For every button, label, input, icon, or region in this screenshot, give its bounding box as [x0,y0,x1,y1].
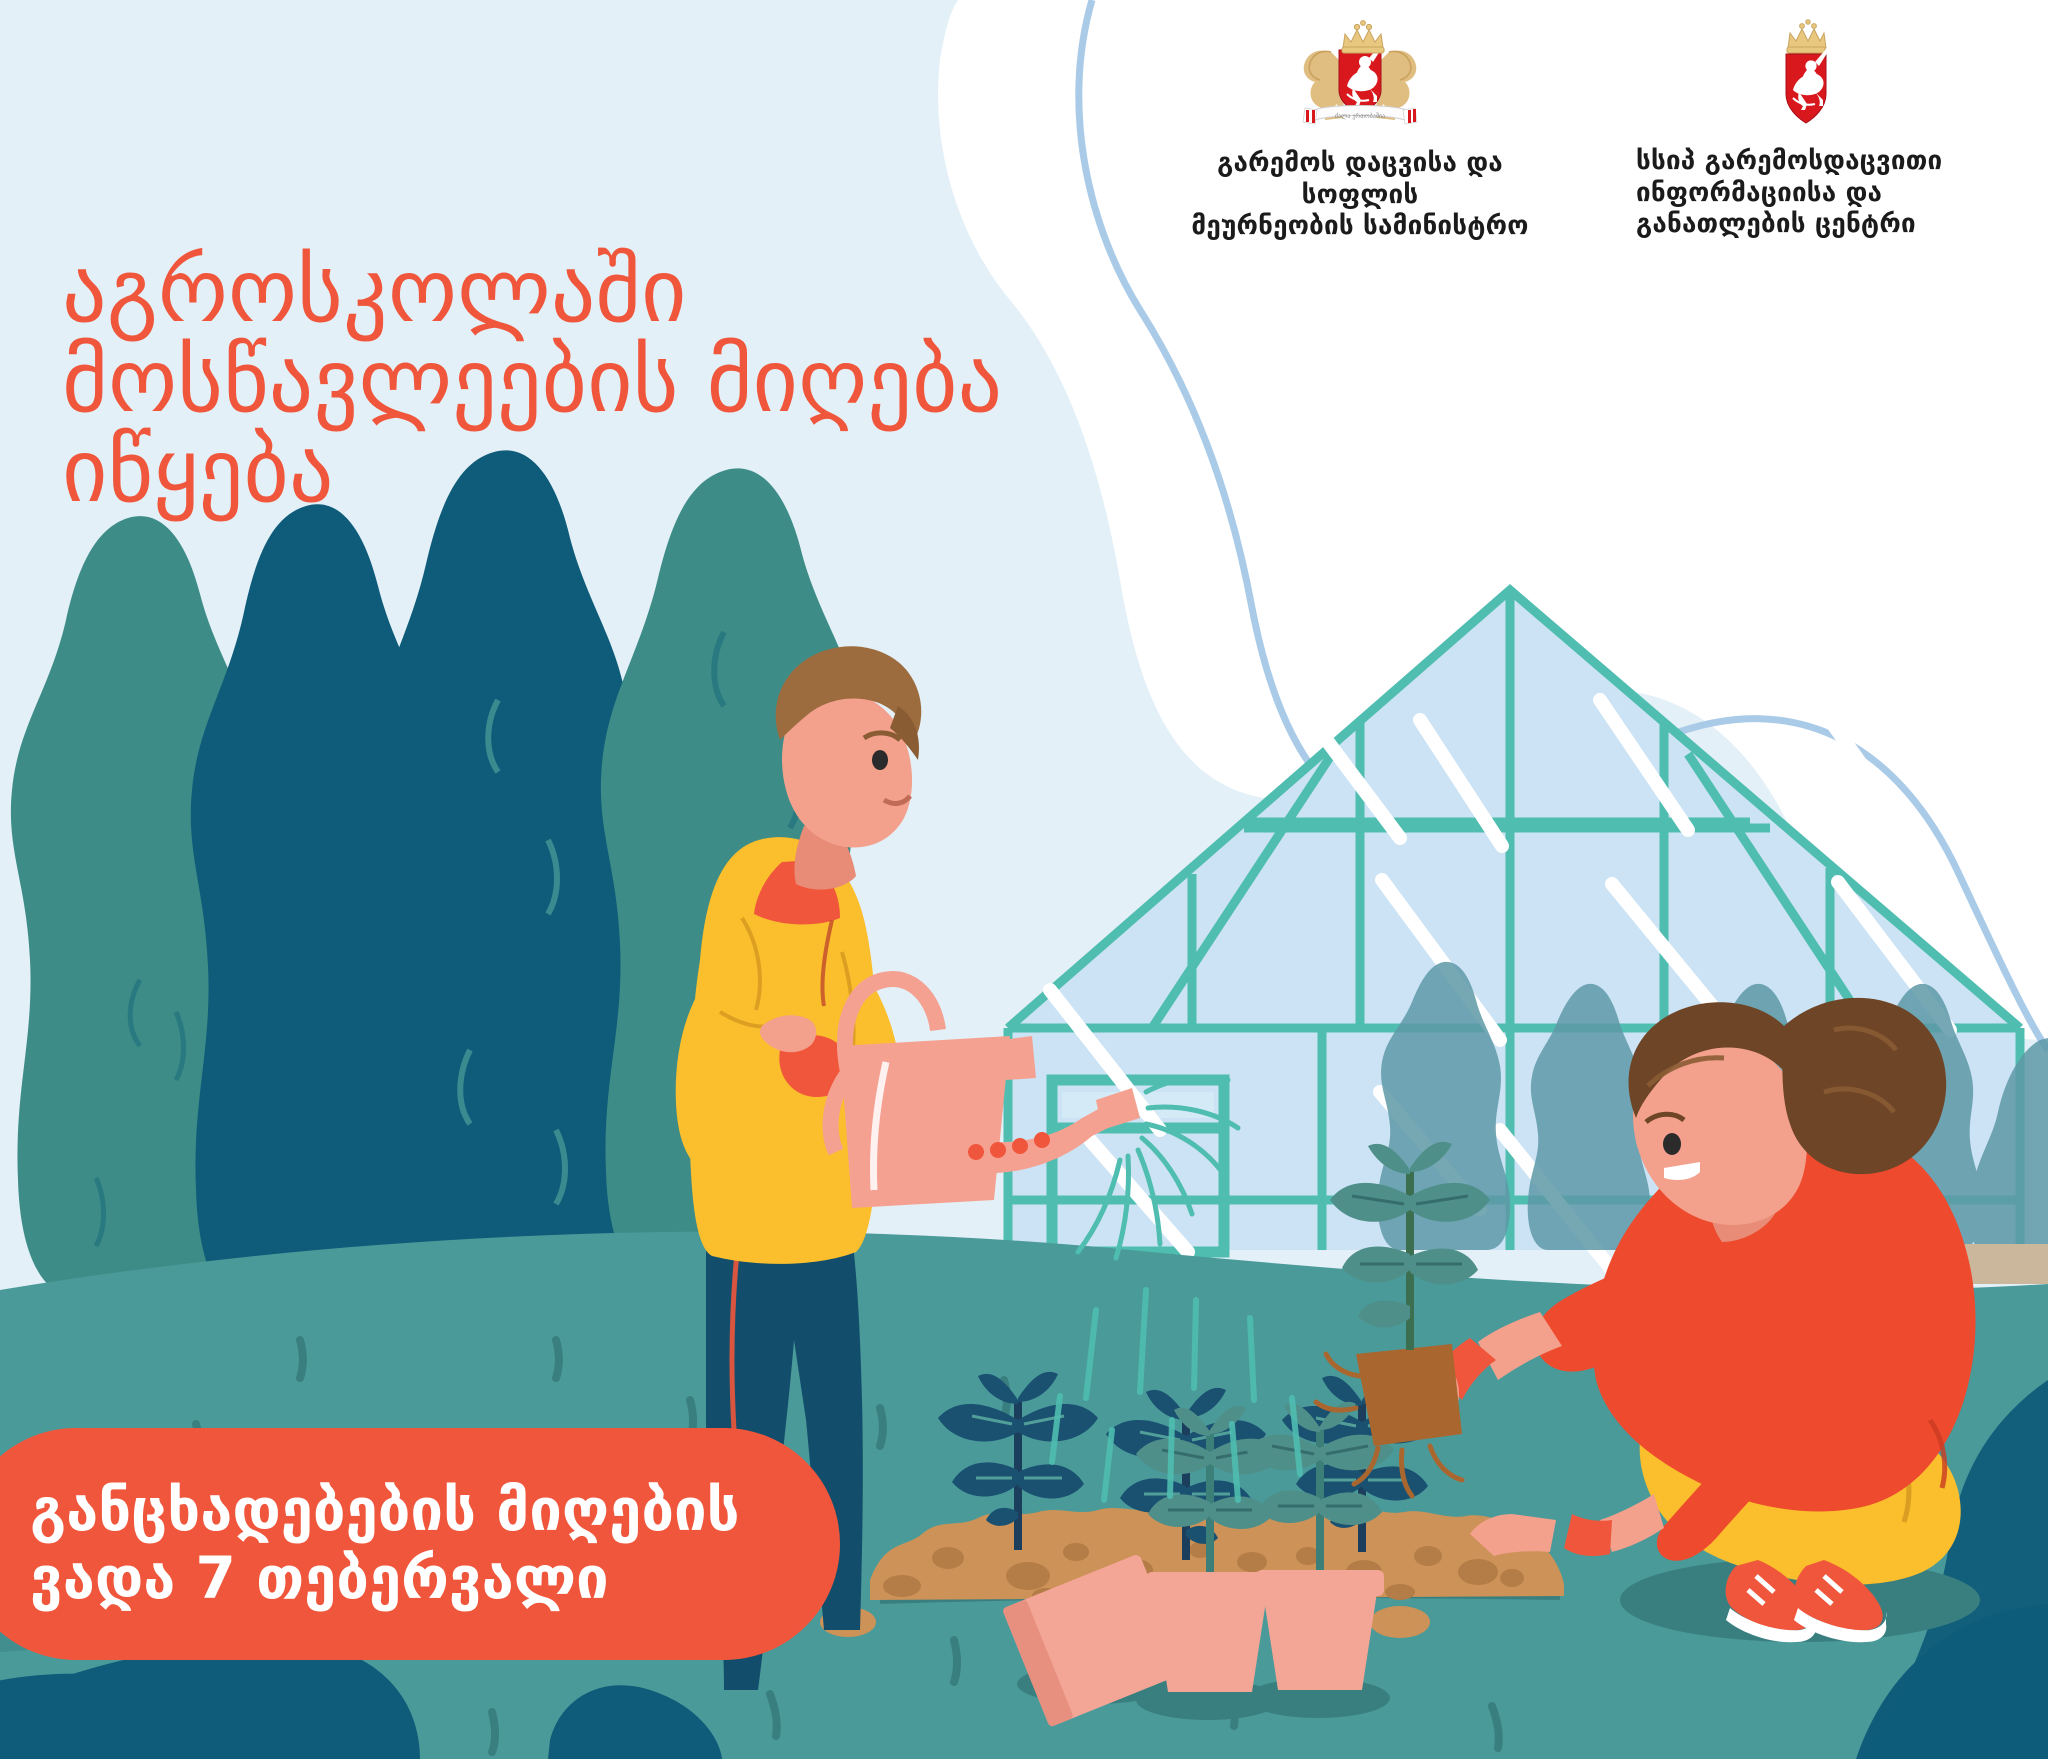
woman-ponytail [1782,998,1946,1174]
center-caption-line-2: ინფორმაციისა და [1636,178,1976,210]
deadline-line-1: განცხადებების მიღების [30,1476,740,1544]
page-title-line-3: იწყება [62,426,1242,516]
poster-root: ძალა ერთობაშია გარემოს დაცვისა და სოფლის… [0,0,2048,1759]
center-caption-line-3: განათლების ცენტრი [1636,209,1976,241]
ministry-logo-block: ძალა ერთობაშია გარემოს დაცვისა და სოფლის… [1190,14,1530,243]
ministry-logo-caption: გარემოს დაცვისა და სოფლის მეურნეობის სამ… [1190,148,1530,243]
center-caption-line-1: სსიპ გარემოსდაცვითი [1636,146,1976,178]
page-title-line-1: აგროსკოლაში [62,246,1242,336]
man-eye [872,750,888,770]
deadline-text: განცხადებების მიღების ვადა 7 თებერვალი [30,1476,740,1613]
ministry-caption-line-1: გარემოს დაცვისა და სოფლის [1190,148,1530,211]
center-logo-caption: სსიპ გარემოსდაცვითი ინფორმაციისა და განა… [1636,146,1976,241]
georgia-shield-crown-icon [1774,14,1838,132]
svg-text:ძალა ერთობაშია: ძალა ერთობაშია [1335,113,1385,120]
deadline-banner: განცხადებების მიღების ვადა 7 თებერვალი [0,1428,840,1660]
page-title-line-2: მოსწავლეების მიღება [62,336,1242,426]
georgia-coat-of-arms-full-icon: ძალა ერთობაშია [1295,14,1425,134]
woman-eye [1663,1133,1681,1155]
watering-can-neck [1002,1036,1036,1080]
deadline-line-2: ვადა 7 თებერვალი [30,1544,740,1612]
ministry-caption-line-2: მეურნეობის სამინისტრო [1190,211,1530,243]
center-logo-block: სსიპ გარემოსდაცვითი ინფორმაციისა და განა… [1636,14,1976,241]
page-title: აგროსკოლაში მოსწავლეების მიღება იწყება [62,246,1242,515]
